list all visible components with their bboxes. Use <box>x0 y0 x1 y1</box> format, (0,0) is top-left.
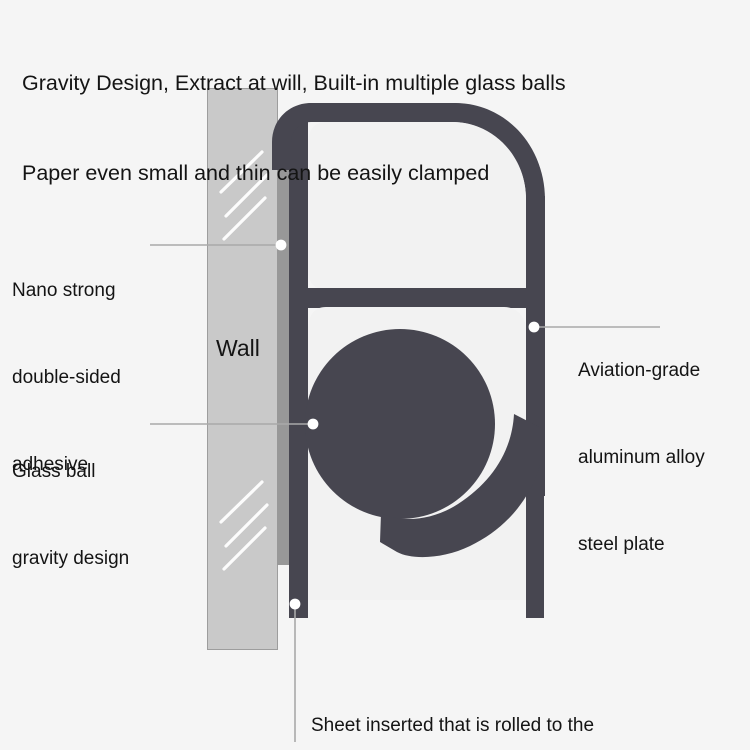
leader-dot-glass-ball <box>308 419 319 430</box>
glass-ball <box>305 329 495 519</box>
wall-label: Wall <box>216 334 260 362</box>
callout-plate-line-3: steel plate <box>578 530 705 559</box>
leader-dot-plate <box>529 322 540 333</box>
callout-sheet: Sheet inserted that is rolled to the mar… <box>311 653 604 750</box>
callout-plate: Aviation-grade aluminum alloy steel plat… <box>578 298 705 617</box>
clip-left-bar-foot <box>289 580 308 618</box>
headline: Gravity Design, Extract at will, Built-i… <box>22 8 566 248</box>
headline-line-2: Paper even small and thin can be easily … <box>22 158 566 188</box>
callout-glass-ball-line-1: Glass ball <box>12 457 129 486</box>
callout-plate-line-2: aluminum alloy <box>578 443 705 472</box>
callout-adhesive-line-2: double-sided <box>12 363 121 392</box>
callout-glass-ball: Glass ball gravity design <box>12 399 129 631</box>
clip-mid-bar <box>289 288 545 308</box>
callout-glass-ball-line-2: gravity design <box>12 544 129 573</box>
callout-adhesive-line-1: Nano strong <box>12 276 121 305</box>
callout-sheet-line-1: Sheet inserted that is rolled to the <box>311 711 604 740</box>
leader-dot-sheet <box>290 599 301 610</box>
product-diagram: Gravity Design, Extract at will, Built-i… <box>0 0 750 750</box>
headline-line-1: Gravity Design, Extract at will, Built-i… <box>22 68 566 98</box>
callout-plate-line-1: Aviation-grade <box>578 356 705 385</box>
